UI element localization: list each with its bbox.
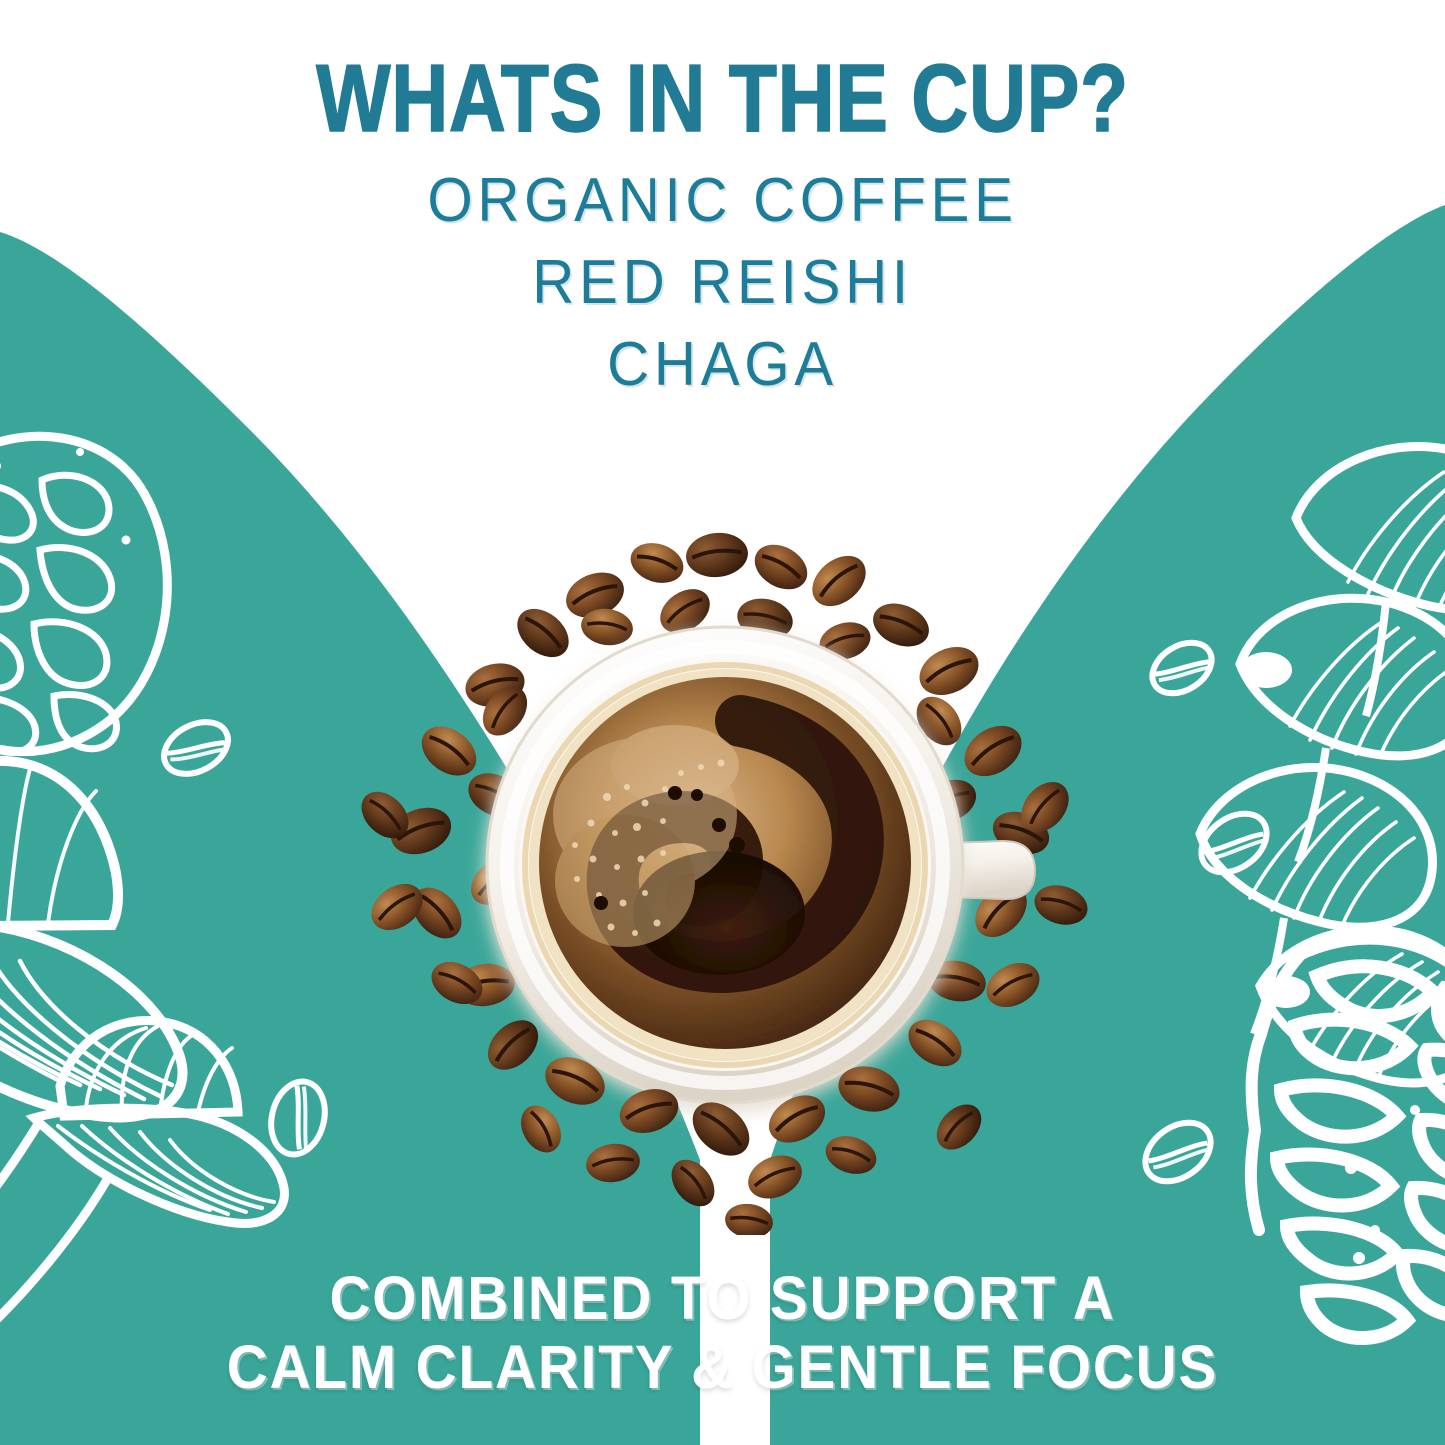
coffee-cup-on-beans-photo [345,515,1105,1235]
product-infographic: WHATS IN THE CUP? ORGANIC COFFEE RED REI… [0,0,1445,1445]
coffee-mug [487,627,963,1103]
